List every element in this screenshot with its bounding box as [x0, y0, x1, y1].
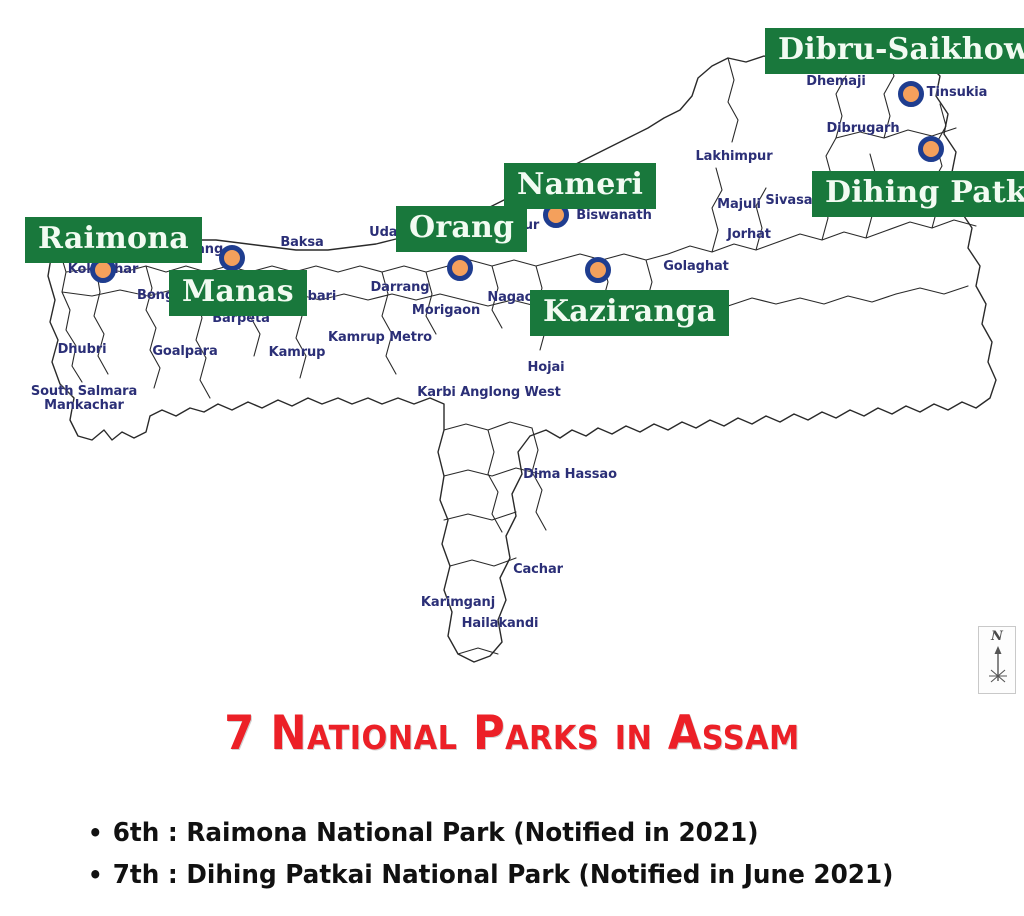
- park-marker-dibru-saikhowa[interactable]: [898, 81, 924, 107]
- recent-parks-list: 6th : Raimona National Park (Notified in…: [88, 812, 988, 896]
- park-label-nameri[interactable]: Nameri: [504, 163, 656, 209]
- park-label-manas[interactable]: Manas: [169, 270, 307, 316]
- park-marker-dihing-patkai[interactable]: [918, 136, 944, 162]
- page-title: 7 National Parks in Assam: [41, 706, 983, 761]
- park-marker-manas[interactable]: [219, 245, 245, 271]
- state-outline: [48, 56, 996, 662]
- infographic-page: Kokrajhar Chirang Baksa Bongaigaon Nalba…: [0, 0, 1024, 916]
- park-label-orang[interactable]: Orang: [396, 206, 527, 252]
- park-marker-kaziranga[interactable]: [585, 257, 611, 283]
- north-arrow-icon: [979, 643, 1017, 693]
- park-label-dihing-patkai[interactable]: Dihing Patkai: [812, 171, 1024, 217]
- park-label-kaziranga[interactable]: Kaziranga: [530, 290, 729, 336]
- park-label-raimona[interactable]: Raimona: [25, 217, 202, 263]
- map-outline-svg: [0, 0, 1024, 700]
- list-item-7th: 7th : Dihing Patkai National Park (Notif…: [88, 854, 943, 896]
- list-item-6th: 6th : Raimona National Park (Notified in…: [88, 812, 943, 854]
- compass-north-letter: N: [979, 629, 1015, 644]
- assam-district-map: Kokrajhar Chirang Baksa Bongaigaon Nalba…: [0, 0, 1024, 700]
- park-label-dibru-saikhowa[interactable]: Dibru-Saikhowa: [765, 28, 1024, 74]
- compass-rose: N: [978, 626, 1016, 694]
- park-marker-orang[interactable]: [447, 255, 473, 281]
